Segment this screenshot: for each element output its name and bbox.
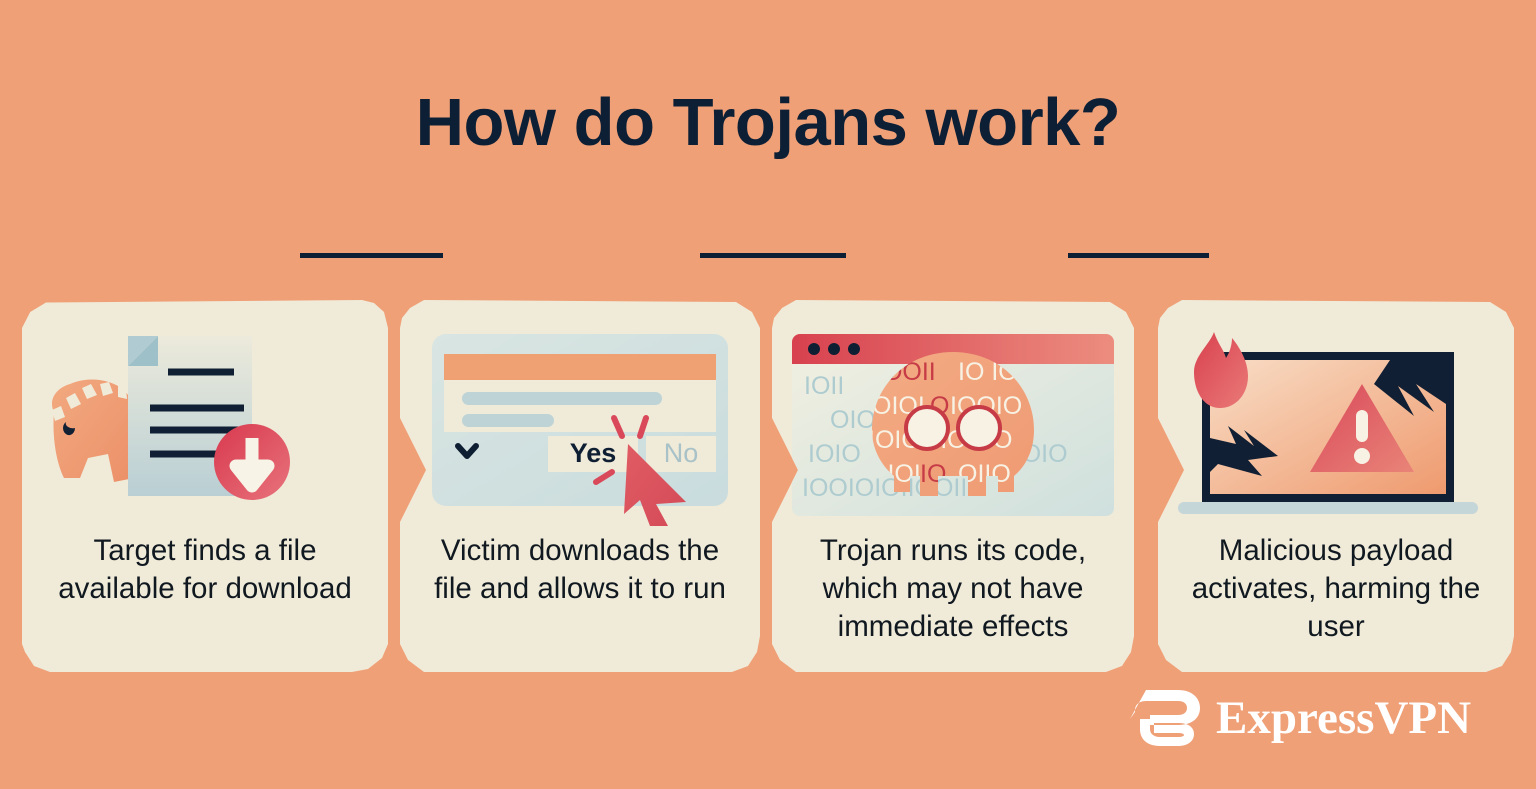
- illustration-cracked-laptop-warning: [1158, 326, 1514, 526]
- stage-pill-row: DELIVERY INSTALLATION ACTIVATION DEPLOYM…: [0, 226, 1536, 286]
- expressvpn-logo[interactable]: ExpressVPN: [1128, 686, 1471, 750]
- dialog-yes-label: Yes: [570, 438, 617, 468]
- illustration-binary-skull-browser: IOII IOOII IO IO OIOIOIIOOIOIOIO IOIO OI…: [772, 326, 1134, 526]
- stage-card-row: Target finds a file available for downlo…: [0, 300, 1536, 672]
- stage-caption: Victim downloads the file and allows it …: [400, 532, 760, 608]
- illustration-trojan-horse-document: [22, 326, 388, 526]
- trojan-horse-icon: [52, 380, 134, 483]
- svg-text:IOII: IOII: [804, 372, 844, 400]
- stage-card-activation[interactable]: IOII IOOII IO IO OIOIOIIOOIOIOIO IOIO OI…: [772, 300, 1134, 672]
- expressvpn-e-logo-icon: [1128, 686, 1202, 750]
- infographic-canvas: How do Trojans work? DELIVERY INSTALLATI…: [0, 0, 1536, 789]
- stage-card-delivery[interactable]: Target finds a file available for downlo…: [22, 300, 388, 672]
- stage-caption: Malicious payload activates, harming the…: [1158, 532, 1514, 646]
- laptop-base: [1178, 502, 1478, 514]
- illustration-install-dialog: Yes No: [400, 326, 760, 526]
- page-title: How do Trojans work?: [0, 88, 1536, 158]
- dialog-titlebar: [444, 354, 716, 380]
- dialog-no-label: No: [664, 438, 699, 468]
- download-badge-icon: [214, 424, 290, 500]
- skull-eye-right: [958, 407, 1000, 449]
- skull-eye-left: [906, 407, 948, 449]
- stage-caption: Trojan runs its code, which may not have…: [772, 532, 1134, 646]
- stage-card-installation[interactable]: Yes No Victim downloads the file and all…: [400, 300, 760, 672]
- svg-text:IOIO: IOIO: [808, 440, 861, 468]
- stage-caption: Target finds a file available for downlo…: [22, 532, 388, 608]
- flame-icon: [1194, 332, 1248, 408]
- browser-dots-icon: [808, 343, 860, 355]
- stage-card-deployment[interactable]: Malicious payload activates, harming the…: [1158, 300, 1514, 672]
- expressvpn-wordmark: ExpressVPN: [1216, 691, 1471, 745]
- dialog-text-line: [462, 392, 662, 405]
- dialog-text-line: [462, 414, 554, 427]
